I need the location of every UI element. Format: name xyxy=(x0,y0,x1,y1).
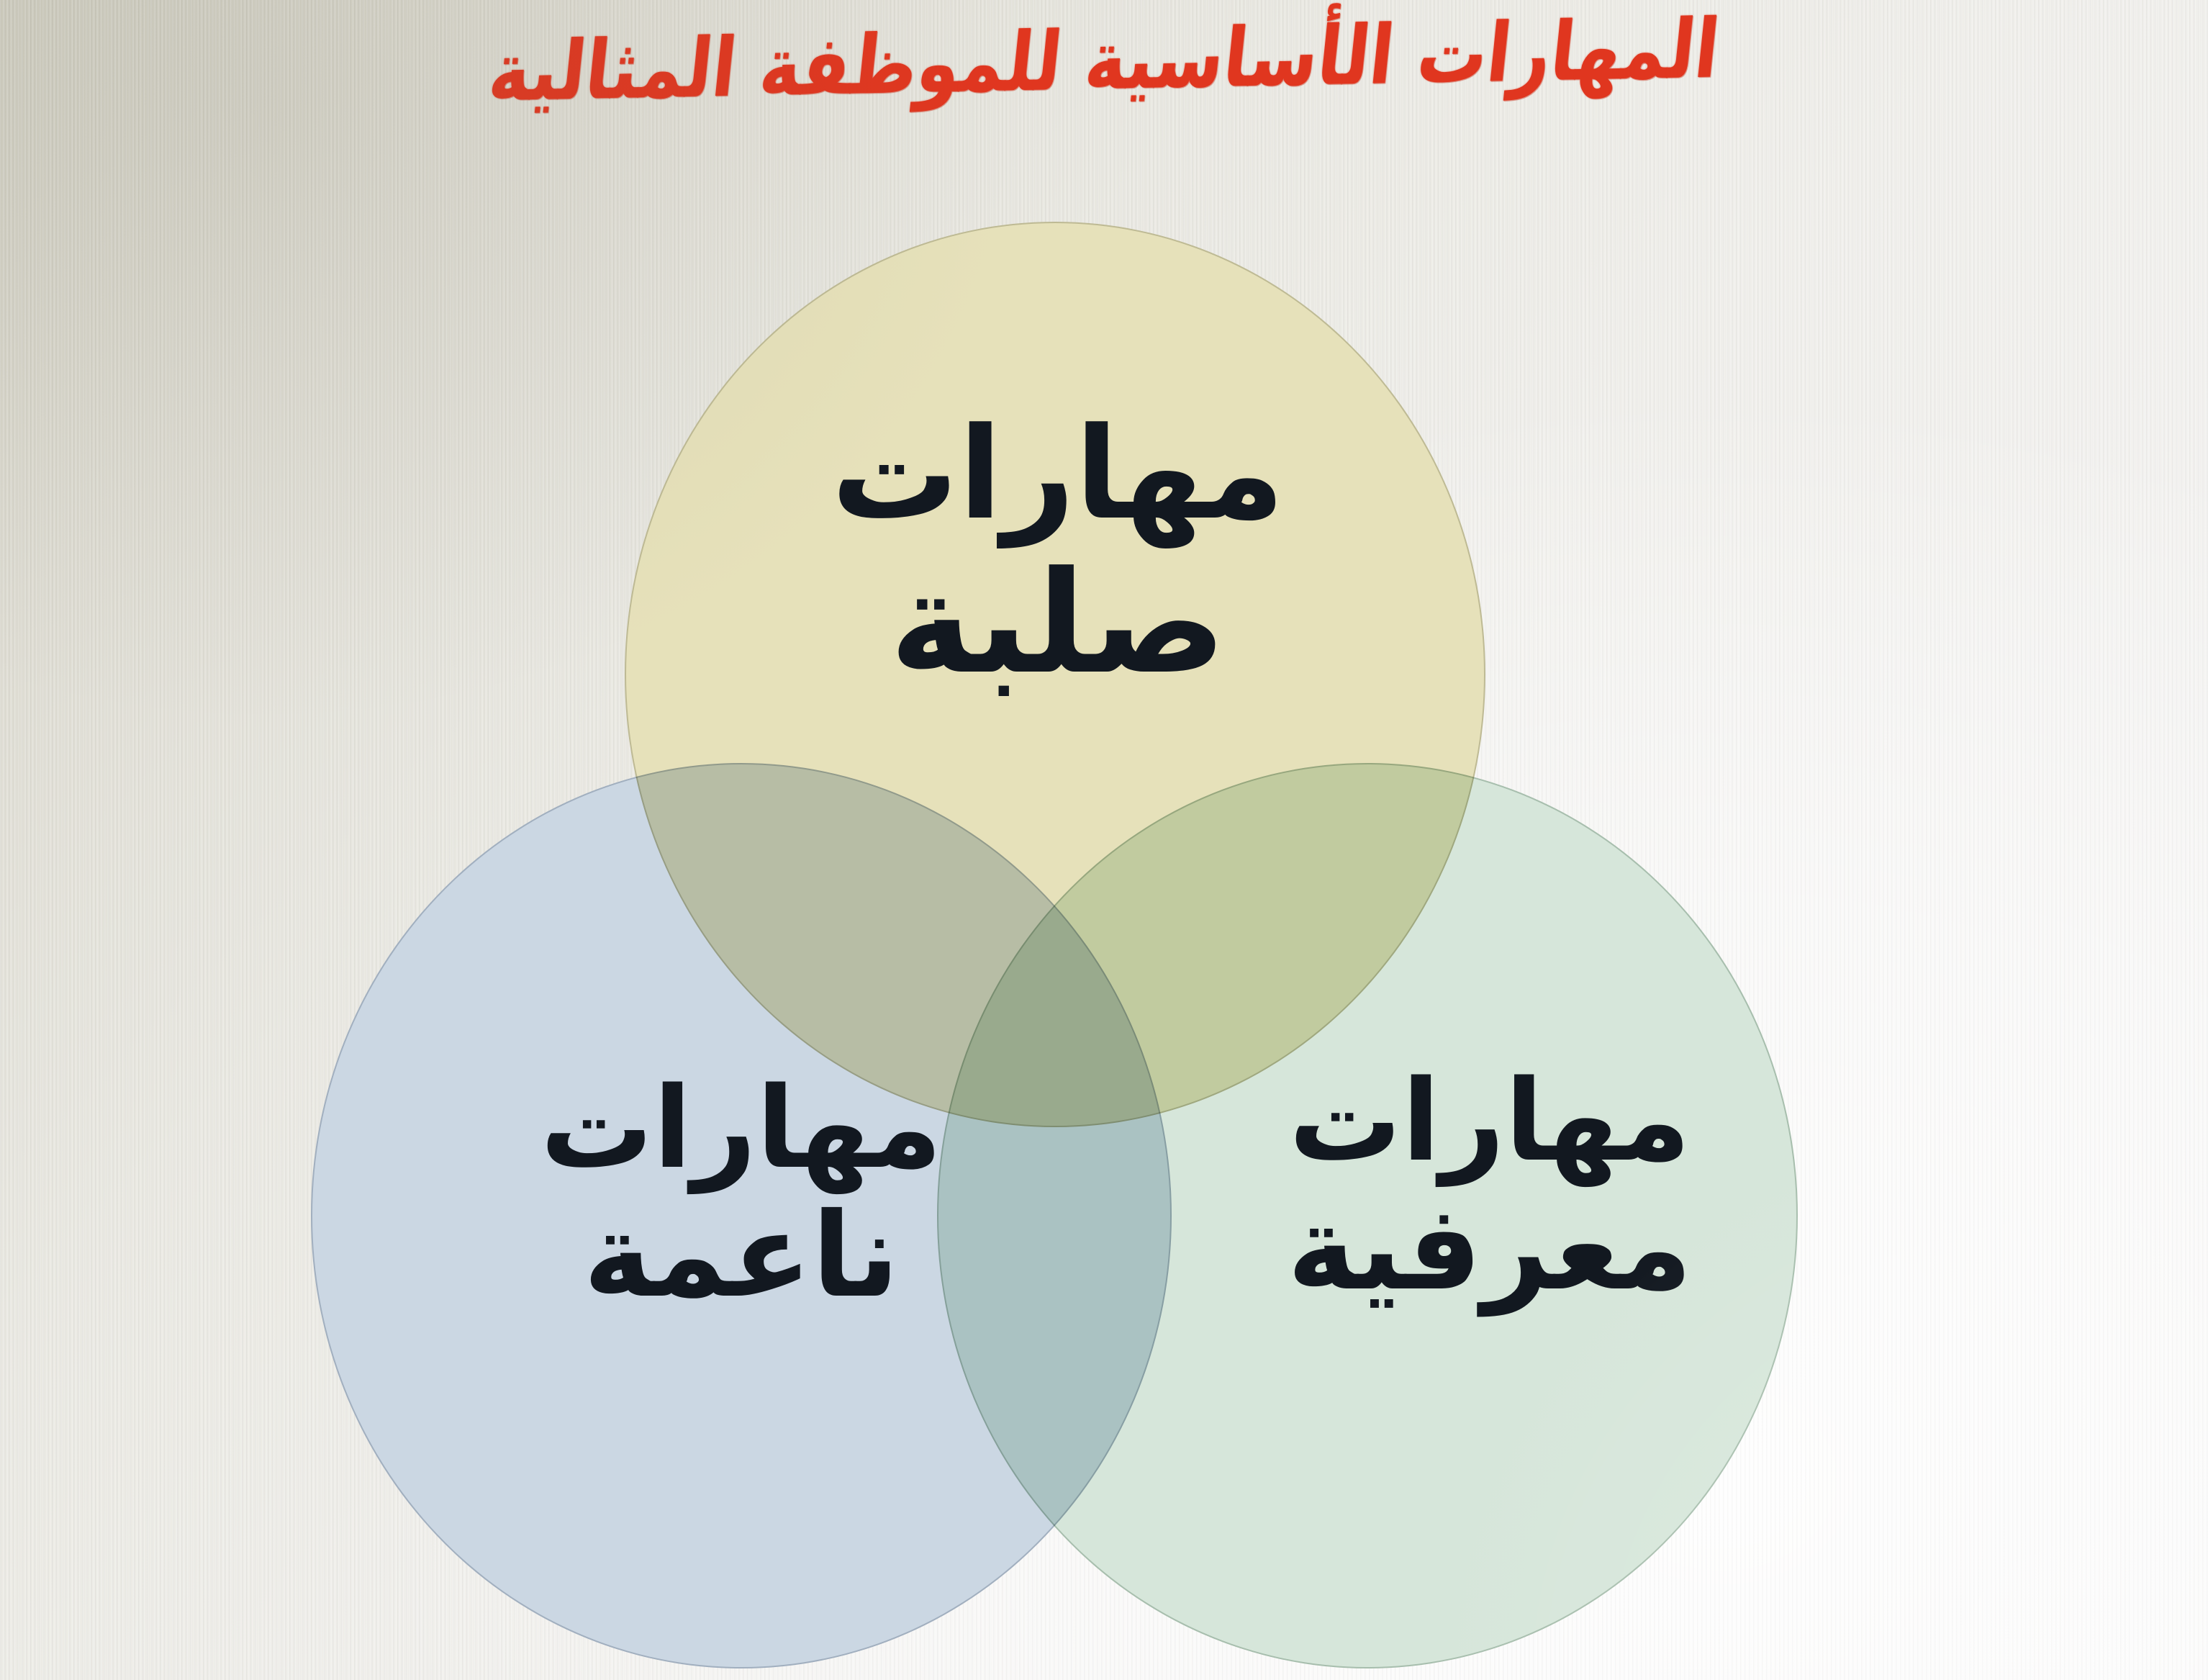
slide-canvas: المهارات الأساسية للموظفة المثالية مهارا… xyxy=(0,0,2208,1680)
venn-circle-knowledge-skills[interactable] xyxy=(937,763,1798,1668)
venn-diagram xyxy=(0,0,2208,1680)
